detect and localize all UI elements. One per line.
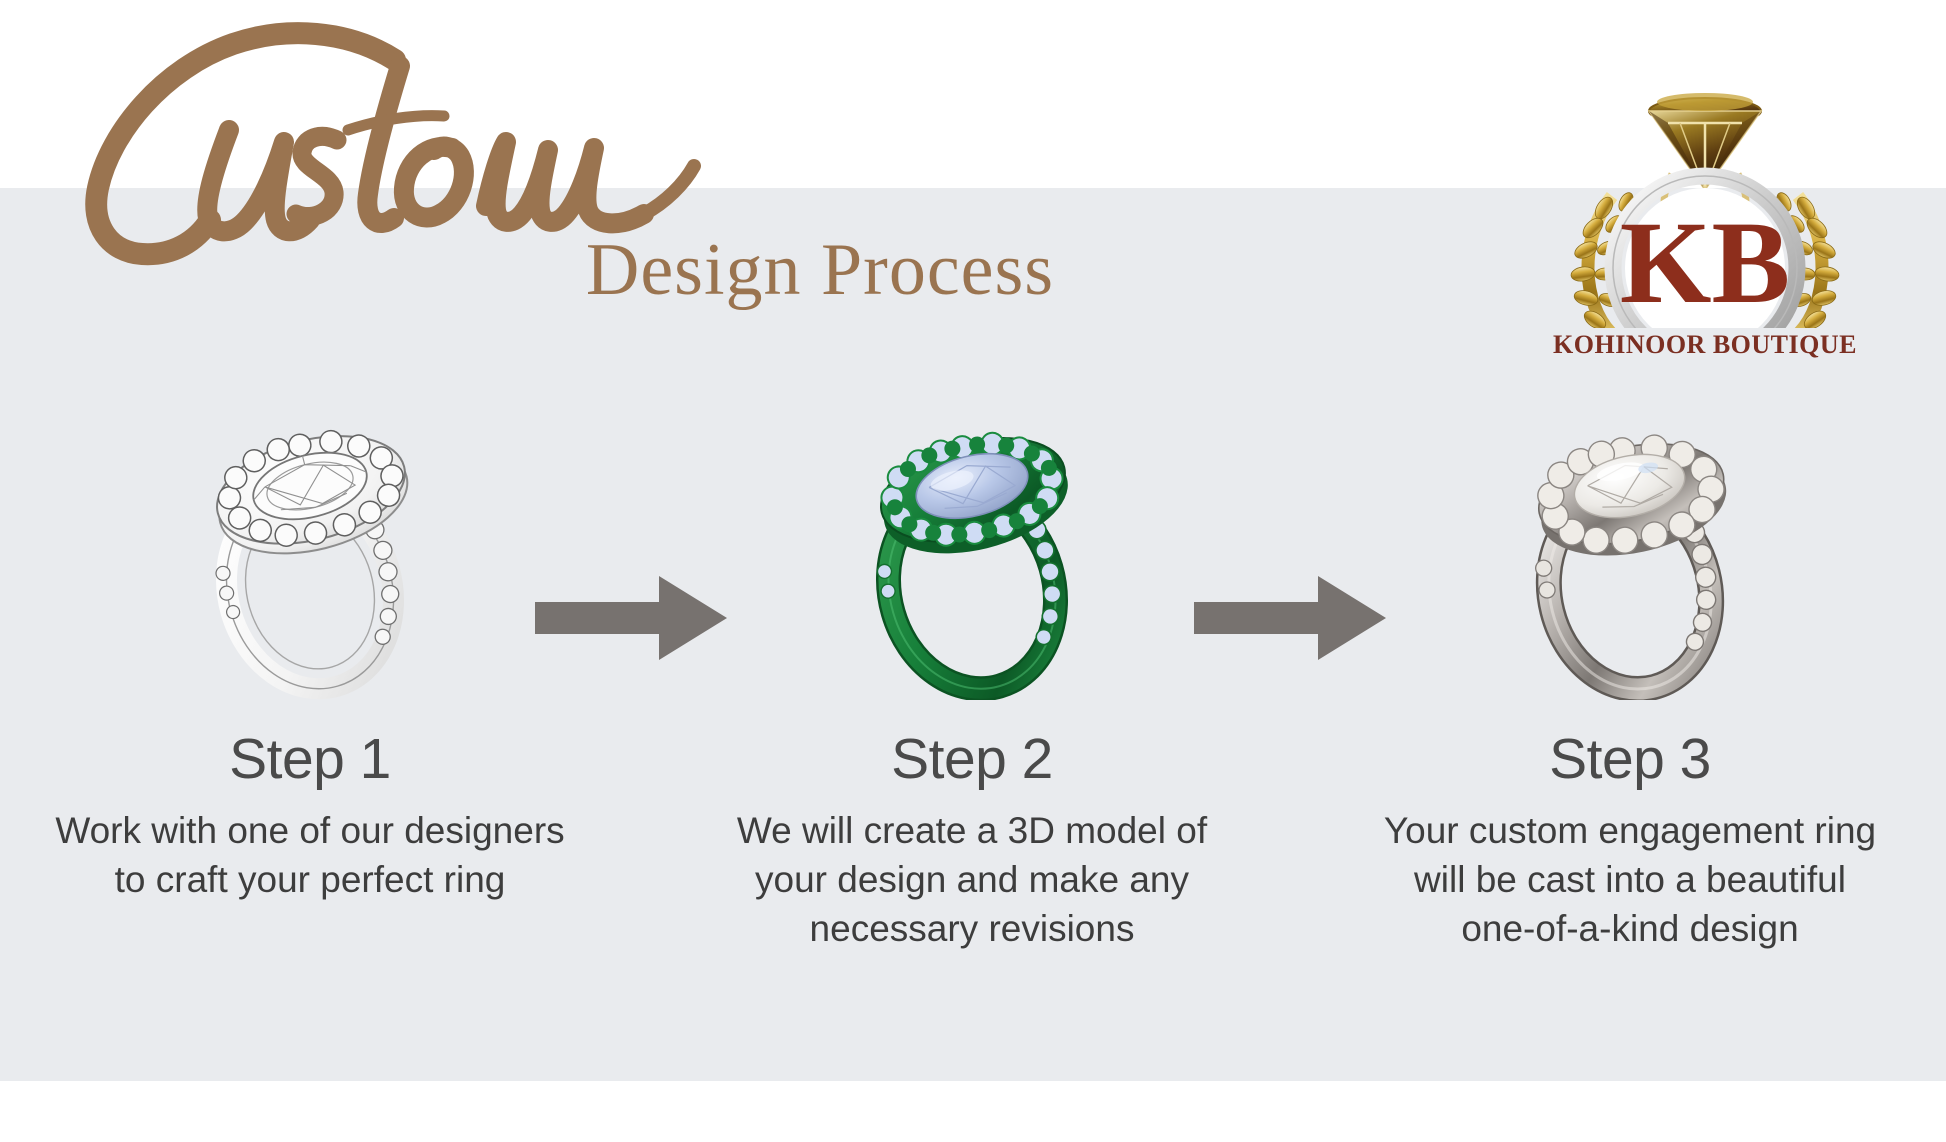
ring-3d-model-icon (672, 400, 1272, 710)
kb-emblem-icon: KB (1540, 78, 1870, 328)
step-description-line: to craft your perfect ring (32, 855, 588, 904)
custom-design-process-banner: Design Process (0, 0, 1946, 1142)
background-band-bottom (0, 1081, 1946, 1142)
brand-logo: KB KOHINOOR BOUTIQUE (1540, 78, 1870, 373)
ring-finished-icon (1330, 400, 1930, 710)
brand-name: KOHINOOR BOUTIQUE (1540, 330, 1870, 360)
step-2: Step 2 We will create a 3D model of your… (672, 400, 1272, 1080)
step-description-line: will be cast into a beautiful (1352, 855, 1908, 904)
step-3: Step 3 Your custom engagement ring will … (1330, 400, 1930, 1080)
step-description-line: one-of-a-kind design (1352, 904, 1908, 953)
steps-row: Step 1 Work with one of our designers to… (0, 400, 1946, 1080)
step-description: Your custom engagement ring will be cast… (1330, 806, 1930, 954)
step-description-line: Work with one of our designers (32, 806, 588, 855)
ring-sketch-icon (10, 400, 610, 710)
step-description: Work with one of our designers to craft … (10, 806, 610, 904)
step-description: We will create a 3D model of your design… (672, 806, 1272, 954)
svg-text:KB: KB (1620, 197, 1791, 328)
step-1: Step 1 Work with one of our designers to… (10, 400, 610, 1080)
step-description-line: your design and make any (694, 855, 1250, 904)
step-description-line: Your custom engagement ring (1352, 806, 1908, 855)
step-title: Step 1 (10, 730, 610, 790)
step-description-line: necessary revisions (694, 904, 1250, 953)
step-title: Step 3 (1330, 730, 1930, 790)
step-title: Step 2 (672, 730, 1272, 790)
step-description-line: We will create a 3D model of (694, 806, 1250, 855)
headline-subtitle: Design Process (520, 228, 1120, 313)
